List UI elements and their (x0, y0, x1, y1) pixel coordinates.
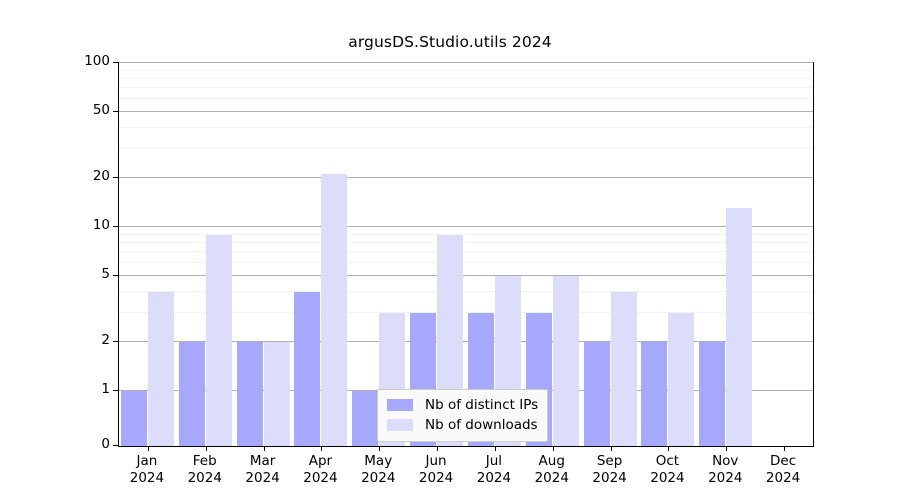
x-tick-month: Oct (639, 453, 697, 470)
bar-mar-series1 (264, 342, 290, 446)
x-tick-month: Sep (581, 453, 639, 470)
y-tick-mark (113, 111, 118, 112)
x-tick-label-jun: Jun2024 (407, 453, 465, 487)
y-tick-mark (113, 177, 118, 178)
x-tick-month: Aug (523, 453, 581, 470)
x-tick-label-apr: Apr2024 (292, 453, 350, 487)
chart-title: argusDS.Studio.utils 2024 (0, 33, 900, 51)
x-tick-label-mar: Mar2024 (234, 453, 292, 487)
bar-may-series0 (352, 391, 378, 446)
x-tick-mark (668, 446, 669, 451)
y-tick-mark (113, 226, 118, 227)
x-tick-mark (437, 446, 438, 451)
bar-feb-series1 (206, 235, 232, 446)
y-tick-label: 1 (101, 383, 110, 397)
y-tick-mark (113, 62, 118, 63)
y-tick-mark (113, 445, 118, 446)
bar-oct-series1 (668, 313, 694, 446)
bar-apr-series0 (294, 292, 320, 446)
x-tick-label-may: May2024 (349, 453, 407, 487)
legend-label: Nb of distinct IPs (425, 397, 538, 413)
legend-swatch (387, 399, 413, 411)
x-tick-year: 2024 (581, 470, 639, 487)
y-tick-mark (113, 275, 118, 276)
chart-legend: Nb of distinct IPsNb of downloads (377, 389, 548, 442)
x-tick-year: 2024 (696, 470, 754, 487)
x-tick-mark (495, 446, 496, 451)
y-tick-label: 0 (101, 438, 110, 452)
x-tick-year: 2024 (523, 470, 581, 487)
x-tick-year: 2024 (465, 470, 523, 487)
legend-item: Nb of distinct IPs (387, 395, 538, 415)
y-tick-mark (113, 341, 118, 342)
x-tick-label-dec: Dec2024 (754, 453, 812, 487)
bar-mar-series0 (237, 342, 263, 446)
x-tick-year: 2024 (349, 470, 407, 487)
chart-figure: argusDS.Studio.utils 2024 0125102050100 … (0, 0, 900, 500)
x-axis-tick-labels: Jan2024Feb2024Mar2024Apr2024May2024Jun20… (118, 453, 812, 497)
x-tick-mark (784, 446, 785, 451)
x-tick-month: Jul (465, 453, 523, 470)
x-tick-month: Dec (754, 453, 812, 470)
x-tick-mark (611, 446, 612, 451)
bar-oct-series0 (641, 342, 667, 446)
bar-sep-series1 (611, 292, 637, 446)
bar-jan-series1 (148, 292, 174, 446)
y-tick-label: 2 (101, 334, 110, 348)
x-tick-month: Apr (292, 453, 350, 470)
x-tick-mark (726, 446, 727, 451)
y-tick-label: 5 (101, 268, 110, 282)
bar-feb-series0 (179, 342, 205, 446)
x-tick-month: Mar (234, 453, 292, 470)
bar-nov-series0 (699, 342, 725, 446)
x-tick-month: Feb (176, 453, 234, 470)
y-tick-label: 20 (93, 170, 110, 184)
x-tick-mark (379, 446, 380, 451)
y-axis-tick-labels: 0125102050100 (60, 62, 110, 445)
x-tick-mark (553, 446, 554, 451)
bar-apr-series1 (321, 174, 347, 446)
x-tick-month: May (349, 453, 407, 470)
x-tick-month: Jan (118, 453, 176, 470)
x-tick-label-aug: Aug2024 (523, 453, 581, 487)
x-tick-label-sep: Sep2024 (581, 453, 639, 487)
y-tick-label: 100 (84, 55, 110, 69)
y-tick-label: 50 (93, 104, 110, 118)
x-tick-year: 2024 (176, 470, 234, 487)
y-tick-mark (113, 390, 118, 391)
bar-sep-series0 (584, 342, 610, 446)
bar-nov-series1 (726, 208, 752, 446)
x-tick-year: 2024 (118, 470, 176, 487)
x-tick-mark (148, 446, 149, 451)
x-tick-label-feb: Feb2024 (176, 453, 234, 487)
bar-aug-series1 (553, 276, 579, 446)
legend-swatch (387, 419, 413, 431)
legend-label: Nb of downloads (425, 417, 538, 433)
bar-jan-series0 (121, 391, 147, 446)
legend-item: Nb of downloads (387, 415, 538, 435)
y-tick-label: 10 (93, 219, 110, 233)
x-tick-year: 2024 (234, 470, 292, 487)
x-tick-year: 2024 (639, 470, 697, 487)
x-tick-year: 2024 (292, 470, 350, 487)
x-tick-label-jan: Jan2024 (118, 453, 176, 487)
x-tick-month: Jun (407, 453, 465, 470)
x-tick-label-jul: Jul2024 (465, 453, 523, 487)
x-tick-mark (321, 446, 322, 451)
x-tick-mark (264, 446, 265, 451)
x-tick-month: Nov (696, 453, 754, 470)
x-tick-label-nov: Nov2024 (696, 453, 754, 487)
x-tick-mark (206, 446, 207, 451)
x-tick-label-oct: Oct2024 (639, 453, 697, 487)
x-tick-year: 2024 (754, 470, 812, 487)
x-tick-year: 2024 (407, 470, 465, 487)
